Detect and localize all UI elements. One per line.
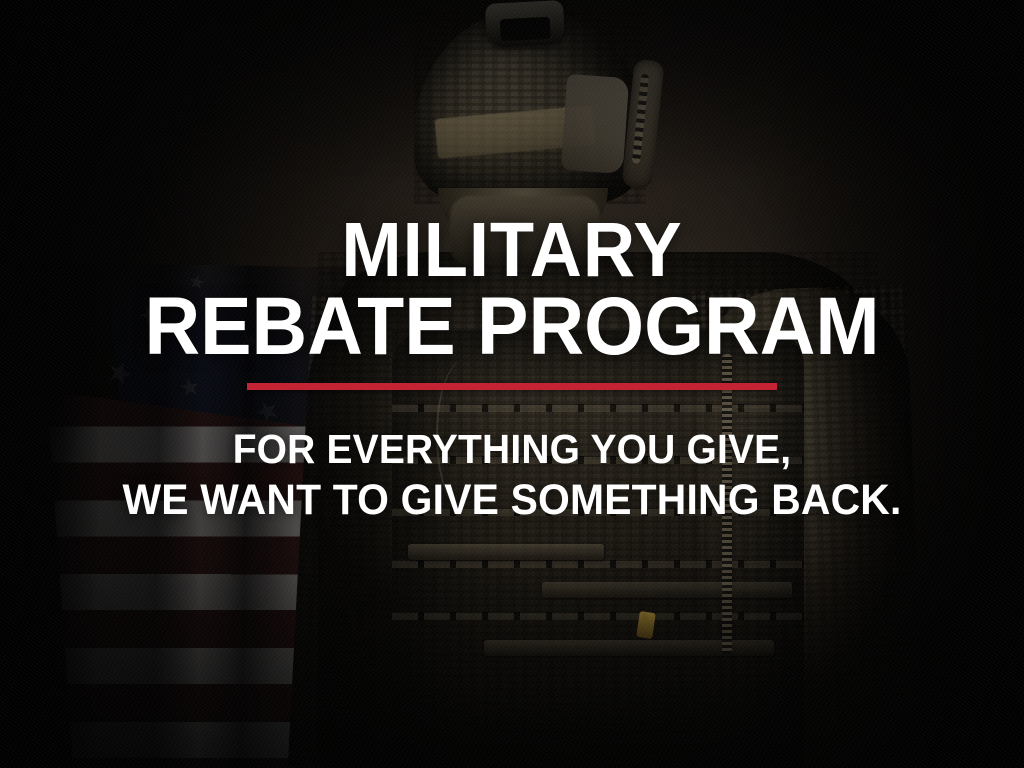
subtitle-line-2: WE WANT TO GIVE SOMETHING BACK.	[122, 474, 901, 526]
military-rebate-poster: ★★★★★★★	[0, 0, 1024, 768]
page-title: MILITARY REBATE PROGRAM	[144, 214, 879, 367]
subtitle-line-1: FOR EVERYTHING YOU GIVE,	[122, 424, 901, 474]
text-overlay: MILITARY REBATE PROGRAM FOR EVERYTHING Y…	[0, 0, 1024, 768]
headline-line-1: MILITARY	[144, 214, 879, 288]
red-divider-rule	[247, 383, 777, 390]
page-subtitle: FOR EVERYTHING YOU GIVE, WE WANT TO GIVE…	[122, 424, 901, 526]
headline-line-2: REBATE PROGRAM	[144, 288, 879, 367]
